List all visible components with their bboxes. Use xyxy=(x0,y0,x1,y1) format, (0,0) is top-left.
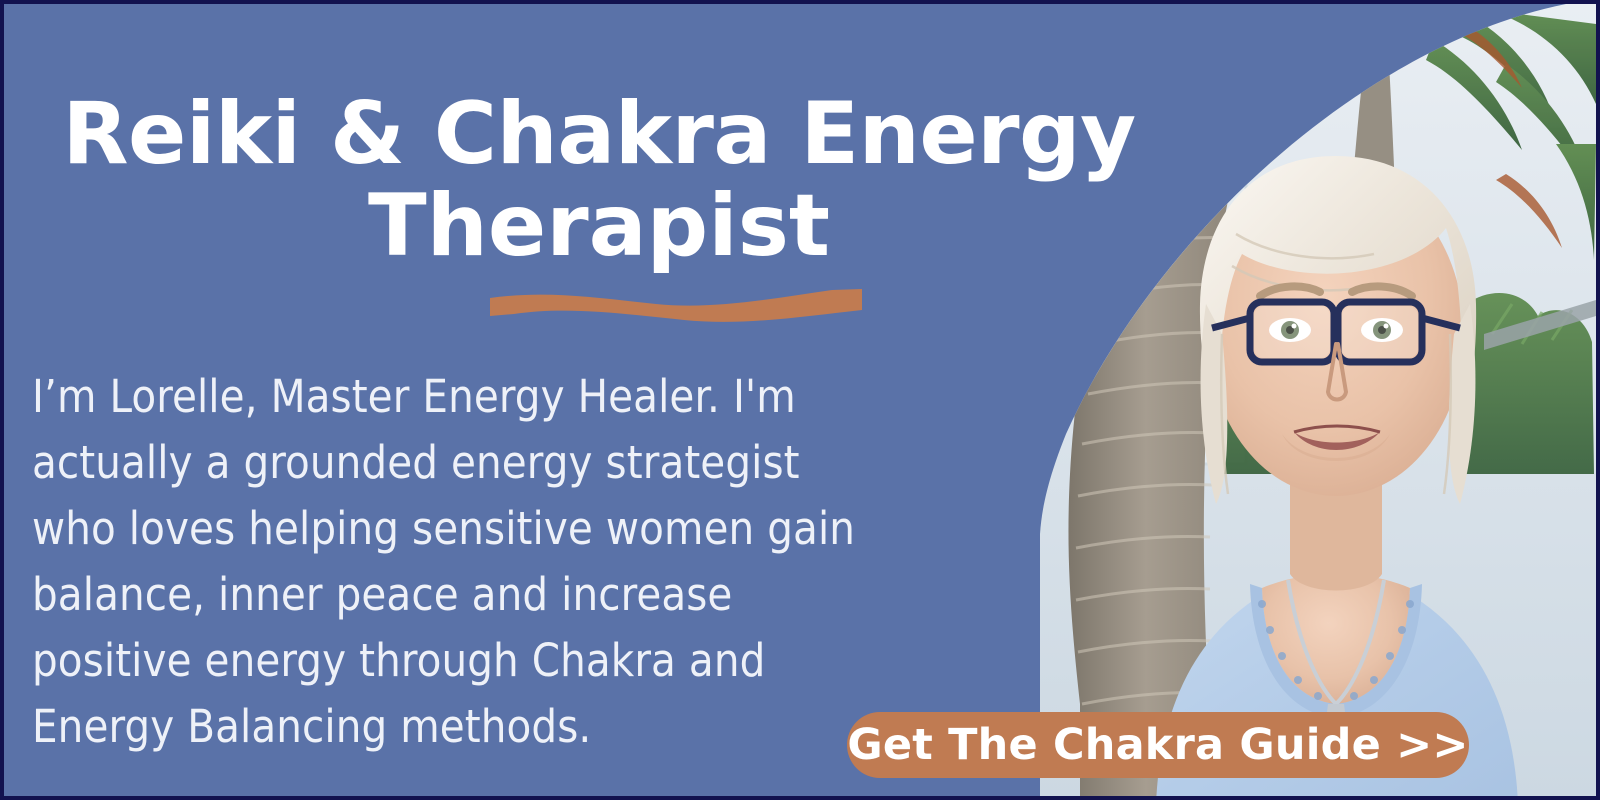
body-line-1: I’m Lorelle, Master Energy Healer. I'm xyxy=(32,364,1032,430)
promo-banner: Reiki & Chakra Energy Therapist I’m Lore… xyxy=(0,0,1600,800)
therapist-photo xyxy=(1036,4,1596,800)
intro-paragraph: I’m Lorelle, Master Energy Healer. I'm a… xyxy=(32,364,1032,760)
page-title: Reiki & Chakra Energy Therapist xyxy=(4,88,1194,272)
brush-stroke-shape xyxy=(488,284,864,328)
headline-line-1: Reiki & Chakra Energy xyxy=(4,88,1194,180)
brush-stroke-underline-icon xyxy=(488,284,864,328)
body-line-2: actually a grounded energy strategist xyxy=(32,430,1032,496)
therapist-photo-illustration xyxy=(1036,4,1596,800)
get-chakra-guide-button[interactable]: Get The Chakra Guide >> xyxy=(847,712,1469,778)
body-line-3: who loves helping sensitive women gain xyxy=(32,496,1032,562)
body-line-5: positive energy through Chakra and xyxy=(32,628,1032,694)
headline-line-2: Therapist xyxy=(4,180,1194,272)
body-line-4: balance, inner peace and increase xyxy=(32,562,1032,628)
